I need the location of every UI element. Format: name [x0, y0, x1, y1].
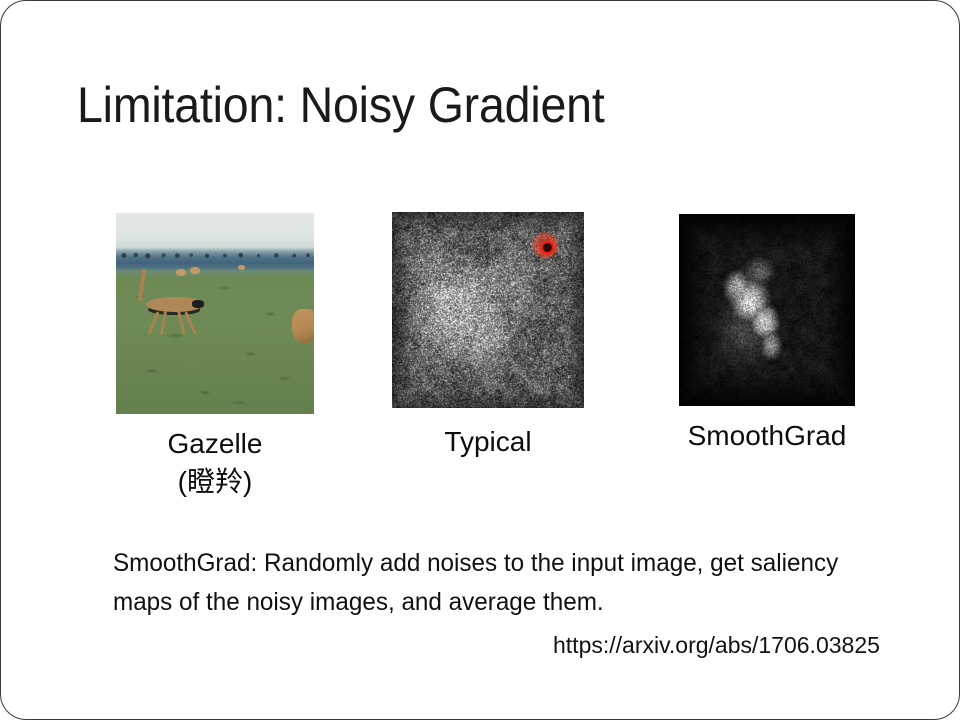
figure-row	[1, 206, 960, 421]
distant-gazelle-shape	[190, 267, 200, 274]
typical-saliency-image	[392, 212, 584, 408]
edge-gazelle-shape	[292, 309, 314, 343]
gazelle-body-shape	[146, 297, 202, 312]
caption-gazelle: Gazelle (瞪羚)	[116, 425, 314, 501]
caption-typical: Typical	[392, 423, 584, 461]
distant-gazelle-shape	[176, 269, 186, 276]
caption-smoothgrad: SmoothGrad	[671, 417, 863, 455]
figure-smoothgrad	[679, 206, 855, 406]
gazelle-photo-image	[116, 213, 314, 414]
caption-gazelle-line2: (瞪羚)	[116, 463, 314, 501]
slide: Limitation: Noisy Gradient	[0, 0, 960, 720]
caption-typical-line1: Typical	[444, 426, 531, 457]
smoothgrad-saliency-image	[679, 214, 855, 406]
caption-smoothgrad-line1: SmoothGrad	[688, 420, 847, 451]
source-url-link[interactable]: https://arxiv.org/abs/1706.03825	[553, 629, 880, 661]
body-description: SmoothGrad: Randomly add noises to the i…	[113, 544, 879, 622]
figure-typical	[392, 206, 584, 408]
page-title: Limitation: Noisy Gradient	[77, 73, 605, 137]
gazelle-legs-shape	[150, 311, 194, 337]
distant-gazelle-shape	[238, 265, 245, 270]
grass-texture-decor	[116, 271, 314, 414]
figure-gazelle	[116, 206, 314, 414]
caption-gazelle-line1: Gazelle	[168, 428, 263, 459]
treeline-decor	[116, 251, 314, 260]
